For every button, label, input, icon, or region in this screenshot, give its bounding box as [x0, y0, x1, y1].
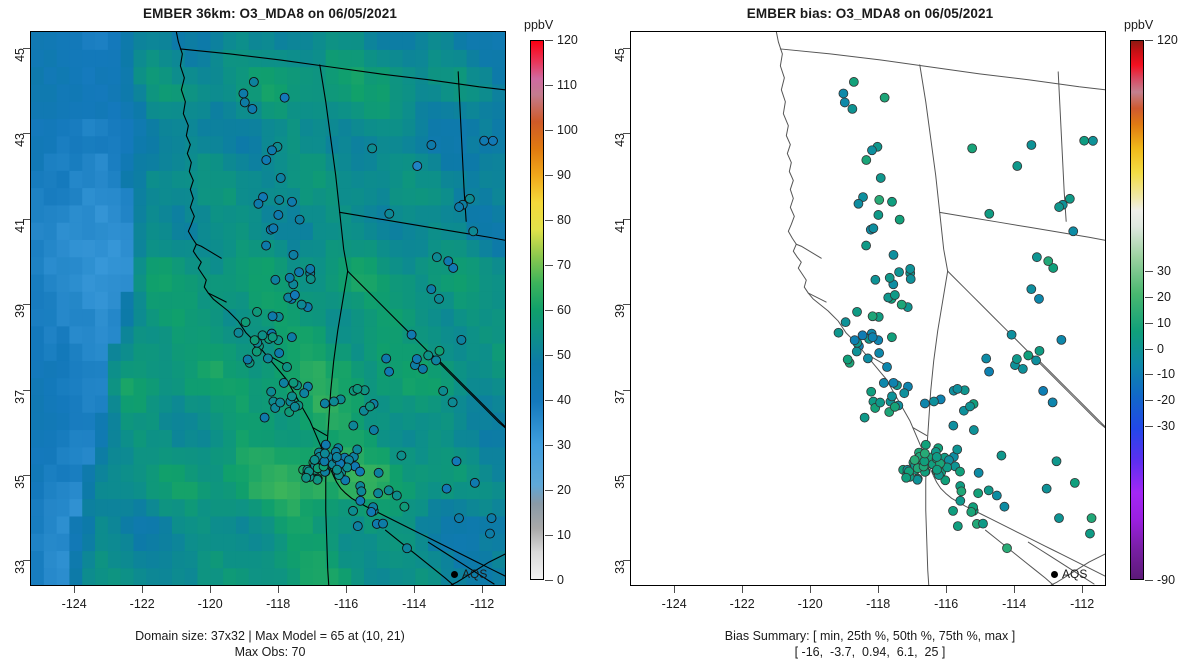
colorbar-tick	[1145, 374, 1153, 375]
aqs-station-marker[interactable]	[853, 307, 862, 316]
aqs-station-marker[interactable]	[974, 489, 983, 498]
aqs-station-marker[interactable]	[1007, 330, 1016, 339]
aqs-station-marker[interactable]	[883, 363, 892, 372]
aqs-station-marker[interactable]	[290, 291, 299, 300]
aqs-station-marker[interactable]	[1024, 351, 1033, 360]
colorbar-tick	[1145, 271, 1153, 272]
y-tick-label: 37	[613, 390, 627, 404]
aqs-station-marker[interactable]	[248, 104, 257, 113]
aqs-station-marker[interactable]	[418, 364, 427, 373]
aqs-legend-bias: AQS	[1051, 567, 1097, 581]
colorbar-unit-bias: ppbV	[1124, 18, 1153, 32]
aqs-station-marker[interactable]	[332, 452, 341, 461]
aqs-station-marker[interactable]	[365, 402, 374, 411]
aqs-station-marker[interactable]	[268, 333, 277, 342]
aqs-station-marker[interactable]	[921, 440, 930, 449]
aqs-station-marker[interactable]	[1070, 478, 1079, 487]
aqs-station-marker[interactable]	[900, 389, 909, 398]
aqs-station-marker[interactable]	[867, 387, 876, 396]
x-tick	[1082, 586, 1083, 593]
x-tick	[482, 586, 483, 593]
aqs-station-marker[interactable]	[457, 335, 466, 344]
aqs-station-marker[interactable]	[268, 312, 277, 321]
colorbar-ticks-bias: -90-30-20-100102030120	[1145, 40, 1200, 580]
aqs-station-marker[interactable]	[956, 496, 965, 505]
aqs-station-marker[interactable]	[254, 199, 263, 208]
x-tick	[674, 586, 675, 593]
aqs-station-marker[interactable]	[367, 507, 376, 516]
aqs-station-marker[interactable]	[843, 355, 852, 364]
x-tick-label: -124	[62, 597, 87, 611]
colorbar-tick-label: 30	[557, 438, 571, 452]
colorbar-tick-label: -90	[1157, 573, 1175, 587]
aqs-station-marker[interactable]	[295, 215, 304, 224]
colorbar-tick	[545, 580, 553, 581]
aqs-station-marker[interactable]	[885, 273, 894, 282]
aqs-station-marker[interactable]	[368, 144, 377, 153]
aqs-legend-label: AQS	[1062, 567, 1087, 581]
colorbar-tick-label: 110	[557, 78, 577, 92]
aqs-station-marker[interactable]	[860, 413, 869, 422]
aqs-station-marker[interactable]	[289, 250, 298, 259]
aqs-station-marker[interactable]	[1044, 257, 1053, 266]
aqs-station-marker[interactable]	[1048, 398, 1057, 407]
colorbar-tick	[545, 175, 553, 176]
aqs-station-marker[interactable]	[283, 363, 292, 372]
colorbar-tick	[545, 220, 553, 221]
aqs-station-marker[interactable]	[485, 529, 494, 538]
aqs-station-marker[interactable]	[262, 241, 271, 250]
colorbar-tick-label: 30	[1157, 264, 1171, 278]
x-tick	[1014, 586, 1015, 593]
aqs-stations-model[interactable]	[31, 32, 505, 585]
aqs-station-marker[interactable]	[353, 445, 362, 454]
aqs-station-marker[interactable]	[392, 491, 401, 500]
aqs-station-marker[interactable]	[920, 399, 929, 408]
x-tick-label: -122	[130, 597, 155, 611]
aqs-station-marker[interactable]	[862, 156, 871, 165]
colorbar-tick	[1145, 580, 1153, 581]
x-tick	[742, 586, 743, 593]
x-tick-label: -122	[730, 597, 755, 611]
aqs-station-marker[interactable]	[260, 413, 269, 422]
aqs-station-marker[interactable]	[850, 336, 859, 345]
aqs-station-marker[interactable]	[929, 397, 938, 406]
aqs-station-marker[interactable]	[444, 257, 453, 266]
aqs-station-marker[interactable]	[1000, 502, 1009, 511]
aqs-station-marker[interactable]	[353, 522, 362, 531]
aqs-station-marker[interactable]	[840, 98, 849, 107]
aqs-station-marker[interactable]	[965, 402, 974, 411]
aqs-station-marker[interactable]	[1027, 141, 1036, 150]
map-plot-area-bias[interactable]: AQS	[630, 31, 1106, 586]
aqs-station-marker[interactable]	[906, 264, 915, 273]
colorbar-ticks-model: 0102030405060708090100110120	[545, 40, 605, 580]
aqs-station-marker[interactable]	[258, 331, 267, 340]
x-axis-model: -124-122-120-118-116-114-112	[30, 586, 506, 620]
aqs-station-marker[interactable]	[985, 367, 994, 376]
aqs-station-marker[interactable]	[285, 273, 294, 282]
colorbar-tick-label: 40	[557, 393, 571, 407]
aqs-station-marker[interactable]	[880, 93, 889, 102]
aqs-station-marker[interactable]	[849, 77, 858, 86]
aqs-station-marker[interactable]	[349, 421, 358, 430]
x-tick-label: -114	[1002, 597, 1026, 611]
aqs-station-marker[interactable]	[1018, 364, 1027, 373]
x-tick	[878, 586, 879, 593]
colorbar-unit-model: ppbV	[524, 18, 553, 32]
colorbar-tick	[1145, 323, 1153, 324]
y-tick-label: 35	[613, 475, 627, 489]
aqs-station-marker[interactable]	[369, 426, 378, 435]
aqs-station-marker[interactable]	[488, 136, 497, 145]
y-axis-model: 33353739414345	[0, 31, 30, 586]
colorbar-tick-label: 70	[557, 258, 571, 272]
aqs-station-marker[interactable]	[275, 349, 284, 358]
colorbar-tick-label: 10	[557, 528, 571, 542]
panel-bias: EMBER bias: O3_MDA8 on 06/05/2021	[600, 0, 1200, 672]
y-tick-label: 45	[13, 48, 27, 62]
colorbar-tick	[1145, 400, 1153, 401]
aqs-station-marker[interactable]	[888, 392, 897, 401]
aqs-station-marker[interactable]	[956, 467, 965, 476]
panel-title-model: EMBER 36km: O3_MDA8 on 06/05/2021	[0, 6, 540, 21]
y-tick-label: 39	[13, 304, 27, 318]
aqs-station-marker[interactable]	[953, 384, 962, 393]
y-tick-label: 43	[613, 133, 627, 147]
aqs-station-marker[interactable]	[854, 199, 863, 208]
panel-title-bias: EMBER bias: O3_MDA8 on 06/05/2021	[600, 6, 1140, 21]
caption-model: Domain size: 37x32 | Max Model = 65 at (…	[0, 628, 540, 660]
aqs-station-marker[interactable]	[287, 333, 296, 342]
aqs-station-marker[interactable]	[243, 355, 252, 364]
aqs-station-marker[interactable]	[263, 354, 272, 363]
aqs-station-marker[interactable]	[240, 98, 249, 107]
y-tick-label: 33	[613, 560, 627, 574]
aqs-station-marker[interactable]	[890, 402, 899, 411]
aqs-station-marker[interactable]	[874, 210, 883, 219]
colorbar-tick-label: 0	[1157, 342, 1164, 356]
aqs-station-marker[interactable]	[1057, 335, 1066, 344]
colorbar-tick-label: 60	[557, 303, 571, 317]
aqs-station-marker[interactable]	[455, 203, 464, 212]
aqs-station-marker[interactable]	[890, 291, 899, 300]
aqs-station-marker[interactable]	[452, 457, 461, 466]
aqs-station-marker[interactable]	[302, 473, 311, 482]
aqs-station-marker[interactable]	[442, 484, 451, 493]
caption-line-1: [ -16, -3.7, 0.94, 6.1, 25 ]	[600, 644, 1140, 660]
x-axis-bias: -124-122-120-118-116-114-112	[630, 586, 1106, 620]
caption-line-1: Max Obs: 70	[0, 644, 540, 660]
x-tick	[810, 586, 811, 593]
y-tick-label: 45	[613, 48, 627, 62]
aqs-station-marker[interactable]	[1034, 294, 1043, 303]
aqs-station-marker[interactable]	[439, 386, 448, 395]
aqs-station-marker[interactable]	[1069, 227, 1078, 236]
aqs-station-marker[interactable]	[252, 347, 261, 356]
aqs-station-marker[interactable]	[288, 197, 297, 206]
x-tick	[142, 586, 143, 593]
aqs-station-marker[interactable]	[434, 294, 443, 303]
aqs-station-marker[interactable]	[279, 378, 288, 387]
aqs-station-marker[interactable]	[333, 465, 342, 474]
aqs-station-marker[interactable]	[374, 468, 383, 477]
aqs-station-marker[interactable]	[1032, 253, 1041, 262]
aqs-station-marker[interactable]	[868, 333, 877, 342]
aqs-station-marker[interactable]	[275, 195, 284, 204]
colorbar-tick-label: 90	[557, 168, 571, 182]
aqs-station-marker[interactable]	[329, 397, 338, 406]
aqs-station-marker[interactable]	[379, 519, 388, 528]
aqs-station-marker[interactable]	[888, 197, 897, 206]
colorbar-tick	[545, 310, 553, 311]
aqs-station-marker[interactable]	[320, 399, 329, 408]
x-tick	[414, 586, 415, 593]
aqs-station-marker[interactable]	[848, 104, 857, 113]
aqs-station-marker[interactable]	[295, 268, 304, 277]
x-tick-label: -118	[266, 597, 290, 611]
x-tick	[210, 586, 211, 593]
aqs-station-marker[interactable]	[469, 227, 478, 236]
aqs-station-marker[interactable]	[310, 455, 319, 464]
colorbar-tick-label: 20	[557, 483, 571, 497]
colorbar-tick-label: 100	[557, 123, 578, 137]
aqs-station-marker[interactable]	[871, 275, 880, 284]
aqs-station-marker[interactable]	[234, 328, 243, 337]
aqs-station-marker[interactable]	[895, 268, 904, 277]
aqs-station-marker[interactable]	[400, 502, 409, 511]
x-tick	[74, 586, 75, 593]
aqs-station-marker[interactable]	[432, 356, 441, 365]
aqs-legend-marker-icon	[1051, 571, 1058, 578]
aqs-station-marker[interactable]	[876, 173, 885, 182]
y-tick-label: 41	[613, 219, 627, 233]
colorbar-bias	[1130, 40, 1144, 580]
aqs-station-marker[interactable]	[1003, 544, 1012, 553]
aqs-station-marker[interactable]	[984, 486, 993, 495]
aqs-station-marker[interactable]	[424, 351, 433, 360]
aqs-station-marker[interactable]	[455, 514, 464, 523]
aqs-station-marker[interactable]	[889, 378, 898, 387]
aqs-station-marker[interactable]	[968, 144, 977, 153]
aqs-station-marker[interactable]	[280, 93, 289, 102]
colorbar-tick-label: -30	[1157, 419, 1175, 433]
aqs-station-marker[interactable]	[1027, 285, 1036, 294]
aqs-station-marker[interactable]	[480, 136, 489, 145]
aqs-station-marker[interactable]	[320, 449, 329, 458]
aqs-station-marker[interactable]	[1088, 136, 1097, 145]
colorbar-tick	[1145, 349, 1153, 350]
aqs-station-marker[interactable]	[465, 194, 474, 203]
colorbar-tick	[545, 400, 553, 401]
colorbar-tick	[1145, 40, 1153, 41]
aqs-station-marker[interactable]	[932, 452, 941, 461]
aqs-station-marker[interactable]	[397, 451, 406, 460]
x-tick-label: -116	[334, 597, 358, 611]
aqs-station-marker[interactable]	[403, 544, 412, 553]
aqs-station-marker[interactable]	[306, 275, 315, 284]
colorbar-tick-label: 120	[1157, 33, 1178, 47]
aqs-station-marker[interactable]	[862, 241, 871, 250]
map-plot-area-model[interactable]: AQS	[30, 31, 506, 586]
aqs-station-marker[interactable]	[1032, 356, 1041, 365]
aqs-station-marker[interactable]	[985, 209, 994, 218]
aqs-station-marker[interactable]	[1065, 194, 1074, 203]
aqs-station-marker[interactable]	[953, 445, 962, 454]
aqs-station-marker[interactable]	[253, 307, 262, 316]
aqs-station-marker[interactable]	[887, 333, 896, 342]
aqs-station-marker[interactable]	[876, 398, 885, 407]
aqs-station-marker[interactable]	[1042, 484, 1051, 493]
aqs-station-marker[interactable]	[974, 468, 983, 477]
aqs-station-marker[interactable]	[875, 195, 884, 204]
aqs-station-marker[interactable]	[356, 496, 365, 505]
aqs-station-marker[interactable]	[1080, 136, 1089, 145]
aqs-station-marker[interactable]	[413, 162, 422, 171]
aqs-station-marker[interactable]	[933, 465, 942, 474]
aqs-station-marker[interactable]	[982, 354, 991, 363]
aqs-station-marker[interactable]	[897, 300, 906, 309]
aqs-station-marker[interactable]	[357, 487, 366, 496]
caption-line-0: Bias Summary: [ min, 25th %, 50th %, 75t…	[600, 628, 1140, 644]
aqs-station-marker[interactable]	[239, 89, 248, 98]
aqs-station-marker[interactable]	[992, 491, 1001, 500]
aqs-legend-marker-icon	[451, 571, 458, 578]
aqs-station-marker[interactable]	[1039, 386, 1048, 395]
aqs-station-marker[interactable]	[1087, 514, 1096, 523]
aqs-station-marker[interactable]	[276, 173, 285, 182]
aqs-station-marker[interactable]	[289, 378, 298, 387]
aqs-station-marker[interactable]	[262, 156, 271, 165]
y-tick-label: 33	[13, 560, 27, 574]
aqs-station-marker[interactable]	[268, 146, 277, 155]
aqs-station-marker[interactable]	[448, 398, 457, 407]
aqs-station-marker[interactable]	[384, 486, 393, 495]
aqs-station-marker[interactable]	[300, 389, 309, 398]
aqs-stations-bias[interactable]	[631, 32, 1105, 585]
aqs-station-marker[interactable]	[1052, 457, 1061, 466]
figure-canvas: EMBER 36km: O3_MDA8 on 06/05/2021	[0, 0, 1200, 672]
aqs-station-marker[interactable]	[353, 384, 362, 393]
aqs-station-marker[interactable]	[869, 224, 878, 233]
x-tick-label: -120	[198, 597, 223, 611]
aqs-station-marker[interactable]	[979, 519, 988, 528]
aqs-station-marker[interactable]	[487, 514, 496, 523]
aqs-station-marker[interactable]	[241, 318, 250, 327]
aqs-station-marker[interactable]	[868, 146, 877, 155]
aqs-station-marker[interactable]	[385, 367, 394, 376]
aqs-station-marker[interactable]	[957, 487, 966, 496]
aqs-station-marker[interactable]	[920, 449, 929, 458]
aqs-station-marker[interactable]	[852, 347, 861, 356]
x-tick-label: -114	[402, 597, 426, 611]
aqs-station-marker[interactable]	[1035, 346, 1044, 355]
aqs-station-marker[interactable]	[356, 467, 365, 476]
x-tick-label: -118	[866, 597, 890, 611]
aqs-station-marker[interactable]	[271, 275, 280, 284]
colorbar-tick	[545, 490, 553, 491]
x-tick-label: -112	[1070, 597, 1094, 611]
aqs-station-marker[interactable]	[276, 398, 285, 407]
colorbar-tick	[545, 130, 553, 131]
colorbar-tick-label: 50	[557, 348, 571, 362]
colorbar-tick	[545, 85, 553, 86]
aqs-station-marker[interactable]	[906, 275, 915, 284]
aqs-station-marker[interactable]	[349, 506, 358, 515]
colorbar-tick	[545, 535, 553, 536]
colorbar-tick	[545, 355, 553, 356]
aqs-station-marker[interactable]	[895, 215, 904, 224]
aqs-station-marker[interactable]	[902, 473, 911, 482]
aqs-station-marker[interactable]	[841, 318, 850, 327]
aqs-station-marker[interactable]	[297, 300, 306, 309]
aqs-station-marker[interactable]	[269, 224, 278, 233]
x-tick-label: -116	[934, 597, 958, 611]
colorbar-tick-label: 20	[1157, 290, 1171, 304]
x-tick-label: -112	[470, 597, 494, 611]
aqs-station-marker[interactable]	[949, 421, 958, 430]
aqs-station-marker[interactable]	[267, 387, 276, 396]
aqs-station-marker[interactable]	[435, 346, 444, 355]
aqs-station-marker[interactable]	[407, 330, 416, 339]
aqs-station-marker[interactable]	[969, 426, 978, 435]
aqs-station-marker[interactable]	[427, 141, 436, 150]
caption-line-0: Domain size: 37x32 | Max Model = 65 at (…	[0, 628, 540, 644]
aqs-station-marker[interactable]	[1055, 514, 1064, 523]
aqs-station-marker[interactable]	[1055, 203, 1064, 212]
x-tick	[346, 586, 347, 593]
aqs-station-marker[interactable]	[863, 354, 872, 363]
colorbar-tick-label: 120	[557, 33, 578, 47]
aqs-station-marker[interactable]	[470, 478, 479, 487]
aqs-station-marker[interactable]	[889, 250, 898, 259]
aqs-station-marker[interactable]	[306, 264, 315, 273]
aqs-station-marker[interactable]	[868, 312, 877, 321]
aqs-station-marker[interactable]	[288, 392, 297, 401]
aqs-station-marker[interactable]	[427, 285, 436, 294]
aqs-station-marker[interactable]	[385, 209, 394, 218]
aqs-legend-label: AQS	[462, 567, 487, 581]
aqs-station-marker[interactable]	[953, 522, 962, 531]
aqs-station-marker[interactable]	[382, 354, 391, 363]
aqs-station-marker[interactable]	[1085, 529, 1094, 538]
aqs-station-marker[interactable]	[412, 355, 421, 364]
colorbar-tick	[1145, 426, 1153, 427]
y-tick-label: 41	[13, 219, 27, 233]
aqs-station-marker[interactable]	[997, 451, 1006, 460]
aqs-station-marker[interactable]	[321, 440, 330, 449]
aqs-station-marker[interactable]	[967, 507, 976, 516]
aqs-station-marker[interactable]	[249, 77, 258, 86]
aqs-station-marker[interactable]	[839, 89, 848, 98]
aqs-station-marker[interactable]	[432, 253, 441, 262]
caption-bias: Bias Summary: [ min, 25th %, 50th %, 75t…	[600, 628, 1140, 660]
aqs-station-marker[interactable]	[1013, 162, 1022, 171]
aqs-station-marker[interactable]	[374, 489, 383, 498]
aqs-station-marker[interactable]	[875, 349, 884, 358]
colorbar-tick-label: -20	[1157, 393, 1175, 407]
aqs-station-marker[interactable]	[274, 210, 283, 219]
aqs-station-marker[interactable]	[1012, 355, 1021, 364]
aqs-station-marker[interactable]	[879, 378, 888, 387]
aqs-station-marker[interactable]	[910, 455, 919, 464]
aqs-station-marker[interactable]	[290, 402, 299, 411]
aqs-station-marker[interactable]	[250, 336, 259, 345]
panel-model: EMBER 36km: O3_MDA8 on 06/05/2021	[0, 0, 600, 672]
aqs-station-marker[interactable]	[949, 506, 958, 515]
aqs-station-marker[interactable]	[834, 328, 843, 337]
aqs-station-marker[interactable]	[858, 331, 867, 340]
